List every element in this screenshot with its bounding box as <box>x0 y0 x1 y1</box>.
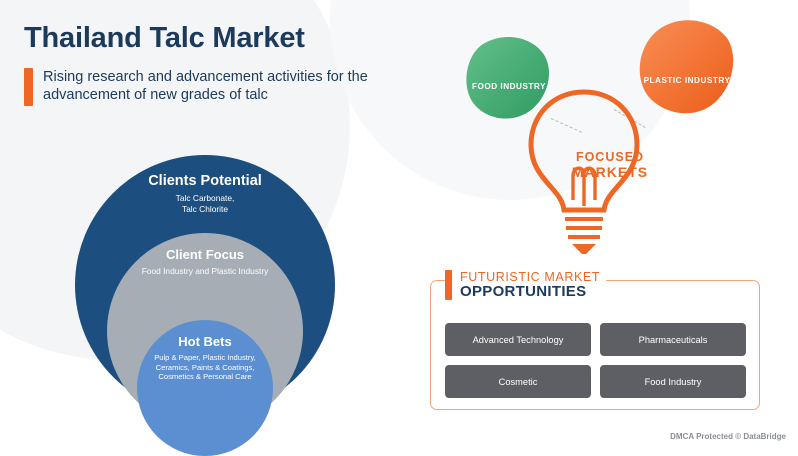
concentric-circles-diagram: Clients Potential Talc Carbonate, Talc C… <box>75 155 335 415</box>
circle-hot-bets: Hot Bets Pulp & Paper, Plastic Industry,… <box>137 320 273 456</box>
circle-inner-detail: Pulp & Paper, Plastic Industry, Ceramics… <box>154 353 256 382</box>
blob-plastic-industry: PLASTIC INDUSTRY <box>635 18 739 122</box>
page-title: Thailand Talc Market <box>24 22 305 55</box>
accent-bar <box>24 68 33 106</box>
circle-outer-detail: Talc Carbonate, Talc Chlorite <box>176 193 235 214</box>
page-subtitle: Rising research and advancement activiti… <box>43 68 443 104</box>
list-item[interactable]: Food Industry <box>600 365 746 398</box>
panel-heading-line2: OPPORTUNITIES <box>460 284 600 300</box>
footer-credit: DMCA Protected © DataBridge <box>670 432 786 441</box>
blob-plastic-industry-label: PLASTIC INDUSTRY <box>635 76 739 85</box>
orange-blob-shape <box>635 18 739 122</box>
list-item[interactable]: Advanced Technology <box>445 323 591 356</box>
slide-canvas: Thailand Talc Market Rising research and… <box>0 0 798 449</box>
focused-label-line1: FOCUSED <box>555 150 665 164</box>
list-item[interactable]: Cosmetic <box>445 365 591 398</box>
futuristic-market-panel: FUTURISTIC MARKET OPPORTUNITIES Advanced… <box>430 280 760 410</box>
focused-markets-graphic: FOOD INDUSTRY PLASTIC INDUSTRY <box>455 10 785 270</box>
circle-outer-title: Clients Potential <box>148 173 262 189</box>
focused-label-line2: MARKETS <box>555 164 665 180</box>
circle-middle-detail: Food Industry and Plastic Industry <box>142 266 269 277</box>
opportunity-list: Advanced Technology Pharmaceuticals Cosm… <box>445 323 747 398</box>
list-item[interactable]: Pharmaceuticals <box>600 323 746 356</box>
circle-middle-title: Client Focus <box>166 247 244 262</box>
subtitle-block: Rising research and advancement activiti… <box>24 68 443 106</box>
panel-accent-bar <box>445 270 452 300</box>
focused-markets-label: FOCUSED MARKETS <box>555 150 665 180</box>
panel-heading: FUTURISTIC MARKET OPPORTUNITIES <box>445 270 606 300</box>
circle-inner-title: Hot Bets <box>178 334 231 349</box>
panel-heading-line1: FUTURISTIC MARKET <box>460 270 600 284</box>
